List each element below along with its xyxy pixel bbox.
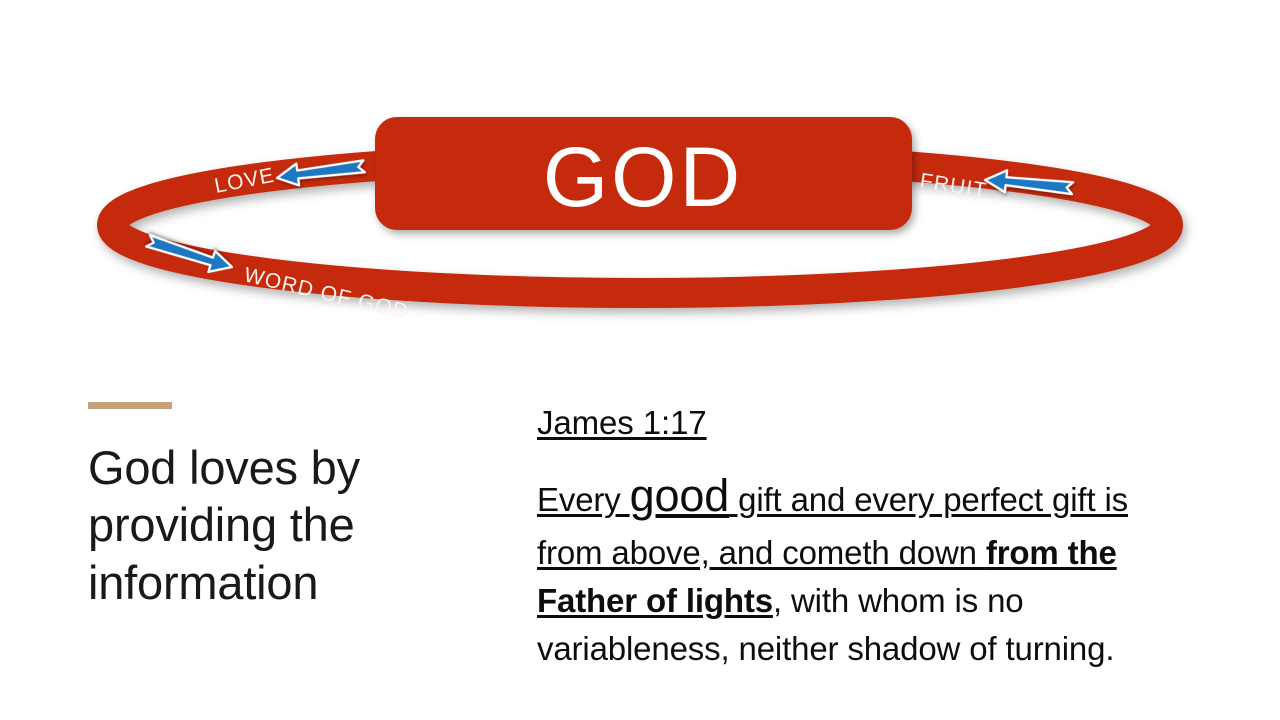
- god-box-label: GOD: [543, 130, 743, 224]
- verse-segment-1: good: [630, 470, 730, 521]
- god-cycle-diagram: GOD LOVE FRUIT WORD OF GOD: [0, 0, 1280, 380]
- page-title: God loves by providing the information: [88, 439, 448, 611]
- scripture-verse: Every good gift and every perfect gift i…: [537, 463, 1177, 673]
- left-column: God loves by providing the information: [88, 402, 448, 611]
- scripture-reference: James 1:17: [537, 404, 1177, 443]
- diagram-canvas: GOD LOVE FRUIT WORD OF GOD: [0, 0, 1280, 380]
- verse-segment-0: Every: [537, 481, 630, 518]
- slide-body: God loves by providing the information J…: [0, 380, 1280, 720]
- right-column: James 1:17 Every good gift and every per…: [537, 404, 1177, 673]
- accent-bar: [88, 402, 172, 409]
